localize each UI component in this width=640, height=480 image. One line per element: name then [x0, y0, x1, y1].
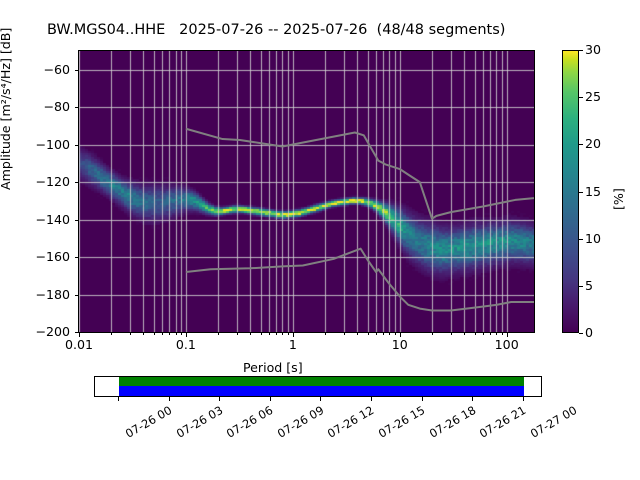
colorbar-tickmark [579, 239, 583, 240]
colorbar [562, 50, 579, 333]
x-tickmark [79, 333, 80, 337]
colorbar-tickmark [579, 144, 583, 145]
x-minor-tickmark [276, 333, 277, 335]
y-axis-label: Amplitude [m²/s⁴/Hz] [dB] [0, 28, 13, 190]
y-tickmark [75, 70, 79, 71]
y-tickmark [75, 107, 79, 108]
x-minor-tickmark [169, 333, 170, 335]
y-tickmark [75, 182, 79, 183]
colorbar-ticklabel: 30 [585, 42, 601, 57]
colorbar-tickmark [579, 192, 583, 193]
x-minor-tickmark [288, 333, 289, 335]
x-minor-tickmark [395, 333, 396, 335]
x-minor-tickmark [357, 333, 358, 335]
x-minor-tickmark [143, 333, 144, 335]
colorbar-tickmark [579, 286, 583, 287]
timeline-tickmark [270, 397, 271, 401]
x-minor-tickmark [282, 333, 283, 335]
timeline-coverage-axis[interactable] [94, 376, 542, 397]
ppsd-figure: BW.MGS04..HHE 2025-07-26 -- 2025-07-26 (… [0, 0, 640, 480]
timeline-tickmark [118, 397, 119, 401]
x-minor-tickmark [490, 333, 491, 335]
x-minor-tickmark [325, 333, 326, 335]
y-tickmark [75, 220, 79, 221]
timeline-tickmark [523, 397, 524, 401]
low-noise-model-line [186, 249, 534, 311]
x-minor-tickmark [432, 333, 433, 335]
x-minor-tickmark [368, 333, 369, 335]
x-tickmark [186, 333, 187, 337]
timeline-tickmark [422, 397, 423, 401]
high-noise-model-line [186, 129, 534, 219]
x-axis-ticklabel: 0.1 [156, 337, 216, 352]
y-axis-ticklabel: −100 [24, 137, 70, 152]
x-minor-tickmark [376, 333, 377, 335]
x-minor-tickmark [269, 333, 270, 335]
y-axis-ticklabel: −180 [24, 287, 70, 302]
x-minor-tickmark [181, 333, 182, 335]
x-minor-tickmark [383, 333, 384, 335]
colorbar-tickmark [579, 97, 583, 98]
x-minor-tickmark [261, 333, 262, 335]
x-axis-label: Period [s] [243, 360, 303, 375]
y-axis-ticklabel: −120 [24, 174, 70, 189]
ppsd-plot-area[interactable] [78, 50, 535, 333]
x-minor-tickmark [176, 333, 177, 335]
x-minor-tickmark [502, 333, 503, 335]
y-tickmark [75, 295, 79, 296]
timeline-ticklabel: 07-26 06 [224, 403, 275, 441]
x-minor-tickmark [389, 333, 390, 335]
x-minor-tickmark [154, 333, 155, 335]
x-minor-tickmark [162, 333, 163, 335]
colorbar-ticklabel: 15 [585, 184, 601, 199]
colorbar-tickmark [579, 333, 583, 334]
colorbar-ticklabel: 10 [585, 231, 601, 246]
colorbar-ticklabel: 25 [585, 89, 601, 104]
page-title: BW.MGS04..HHE 2025-07-26 -- 2025-07-26 (… [47, 22, 505, 38]
x-minor-tickmark [130, 333, 131, 335]
timeline-ticklabel: 07-26 15 [376, 403, 427, 441]
timeline-tickmark [320, 397, 321, 401]
colorbar-tickmark [579, 50, 583, 51]
y-axis-ticklabel: −140 [24, 212, 70, 227]
y-tickmark [75, 332, 79, 333]
y-axis-ticklabel: −60 [24, 62, 70, 77]
timeline-tickmark [371, 397, 372, 401]
timeline-bar-blue [119, 386, 524, 396]
timeline-ticklabel: 07-26 00 [123, 403, 174, 441]
x-minor-tickmark [111, 333, 112, 335]
x-tickmark [507, 333, 508, 337]
timeline-bar-green [119, 377, 524, 386]
x-axis-ticklabel: 10 [370, 337, 430, 352]
timeline-ticklabel: 07-26 18 [427, 403, 478, 441]
x-minor-tickmark [344, 333, 345, 335]
y-axis-ticklabel: −80 [24, 99, 70, 114]
x-minor-tickmark [475, 333, 476, 335]
x-tickmark [293, 333, 294, 337]
y-tickmark [75, 145, 79, 146]
y-axis-ticklabel: −160 [24, 249, 70, 264]
x-minor-tickmark [464, 333, 465, 335]
x-axis-ticklabel: 1 [263, 337, 323, 352]
x-minor-tickmark [218, 333, 219, 335]
y-tickmark [75, 257, 79, 258]
timeline-ticklabel: 07-27 00 [528, 403, 579, 441]
timeline-ticklabel: 07-26 03 [173, 403, 224, 441]
timeline-tickmark [472, 397, 473, 401]
x-minor-tickmark [451, 333, 452, 335]
timeline-tickmark [169, 397, 170, 401]
timeline-ticklabel: 07-26 09 [275, 403, 326, 441]
x-tickmark [400, 333, 401, 337]
timeline-ticklabel: 07-26 21 [477, 403, 528, 441]
x-axis-ticklabel: 100 [477, 337, 537, 352]
colorbar-label: [%] [611, 188, 626, 210]
x-axis-ticklabel: 0.01 [49, 337, 109, 352]
x-minor-tickmark [496, 333, 497, 335]
x-minor-tickmark [483, 333, 484, 335]
colorbar-ticklabel: 20 [585, 136, 601, 151]
noise-model-overlay [79, 51, 534, 332]
colorbar-ticklabel: 5 [585, 278, 593, 293]
timeline-ticklabel: 07-26 12 [325, 403, 376, 441]
colorbar-ticklabel: 0 [585, 325, 593, 340]
x-minor-tickmark [237, 333, 238, 335]
timeline-tickmark [219, 397, 220, 401]
x-minor-tickmark [250, 333, 251, 335]
